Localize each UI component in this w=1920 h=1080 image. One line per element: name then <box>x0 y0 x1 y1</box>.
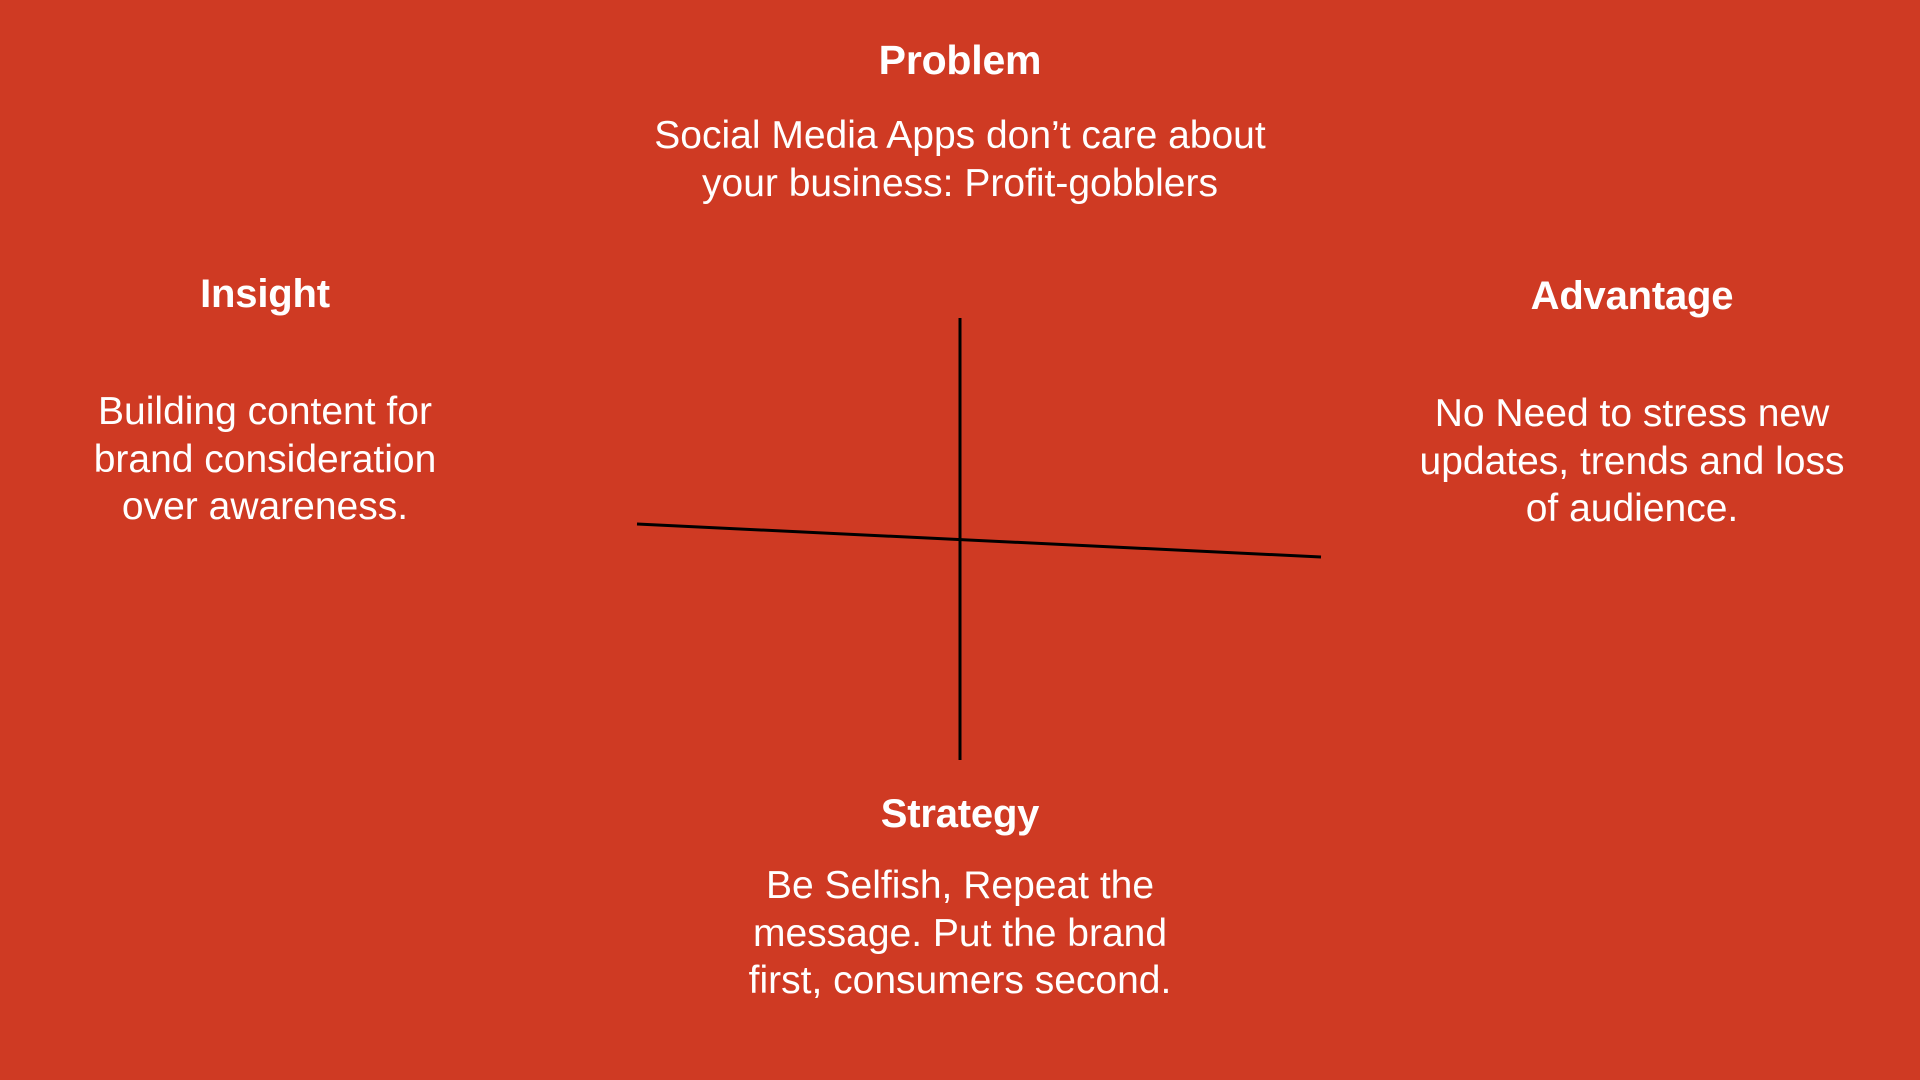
quadrant-insight-title: Insight <box>65 272 465 316</box>
quadrant-strategy-body-line-3: first, consumers second. <box>660 957 1260 1005</box>
quadrant-strategy-body-line-2: message. Put the brand <box>660 910 1260 958</box>
quadrant-strategy-body-line-1: Be Selfish, Repeat the <box>660 862 1260 910</box>
quadrant-insight-body-line-2: brand consideration <box>65 436 465 484</box>
quadrant-strategy-title: Strategy <box>660 792 1260 836</box>
slide-canvas: Problem Social Media Apps don’t care abo… <box>0 0 1920 1080</box>
quadrant-insight-body: Building content for brand consideration… <box>65 388 465 531</box>
quadrant-advantage: Advantage No Need to stress new updates,… <box>1412 274 1852 533</box>
quadrant-problem-body-line-2: your business: Profit-gobblers <box>560 160 1360 208</box>
quadrant-advantage-title: Advantage <box>1412 274 1852 318</box>
quadrant-advantage-body: No Need to stress new updates, trends an… <box>1412 390 1852 533</box>
quadrant-insight-body-line-3: over awareness. <box>65 483 465 531</box>
quadrant-strategy-body: Be Selfish, Repeat the message. Put the … <box>660 862 1260 1005</box>
quadrant-problem-title: Problem <box>560 38 1360 83</box>
quadrant-insight: Insight Building content for brand consi… <box>65 272 465 531</box>
quadrant-advantage-body-line-2: updates, trends and loss <box>1412 438 1852 486</box>
quadrant-advantage-body-line-3: of audience. <box>1412 485 1852 533</box>
quadrant-advantage-body-line-1: No Need to stress new <box>1412 390 1852 438</box>
quadrant-problem-body-line-1: Social Media Apps don’t care about <box>560 112 1360 160</box>
quadrant-strategy: Strategy Be Selfish, Repeat the message.… <box>660 792 1260 1005</box>
quadrant-insight-body-line-1: Building content for <box>65 388 465 436</box>
quadrant-problem: Problem Social Media Apps don’t care abo… <box>560 38 1360 207</box>
quadrant-problem-body: Social Media Apps don’t care about your … <box>560 112 1360 207</box>
horizontal-axis-line <box>637 524 1321 557</box>
